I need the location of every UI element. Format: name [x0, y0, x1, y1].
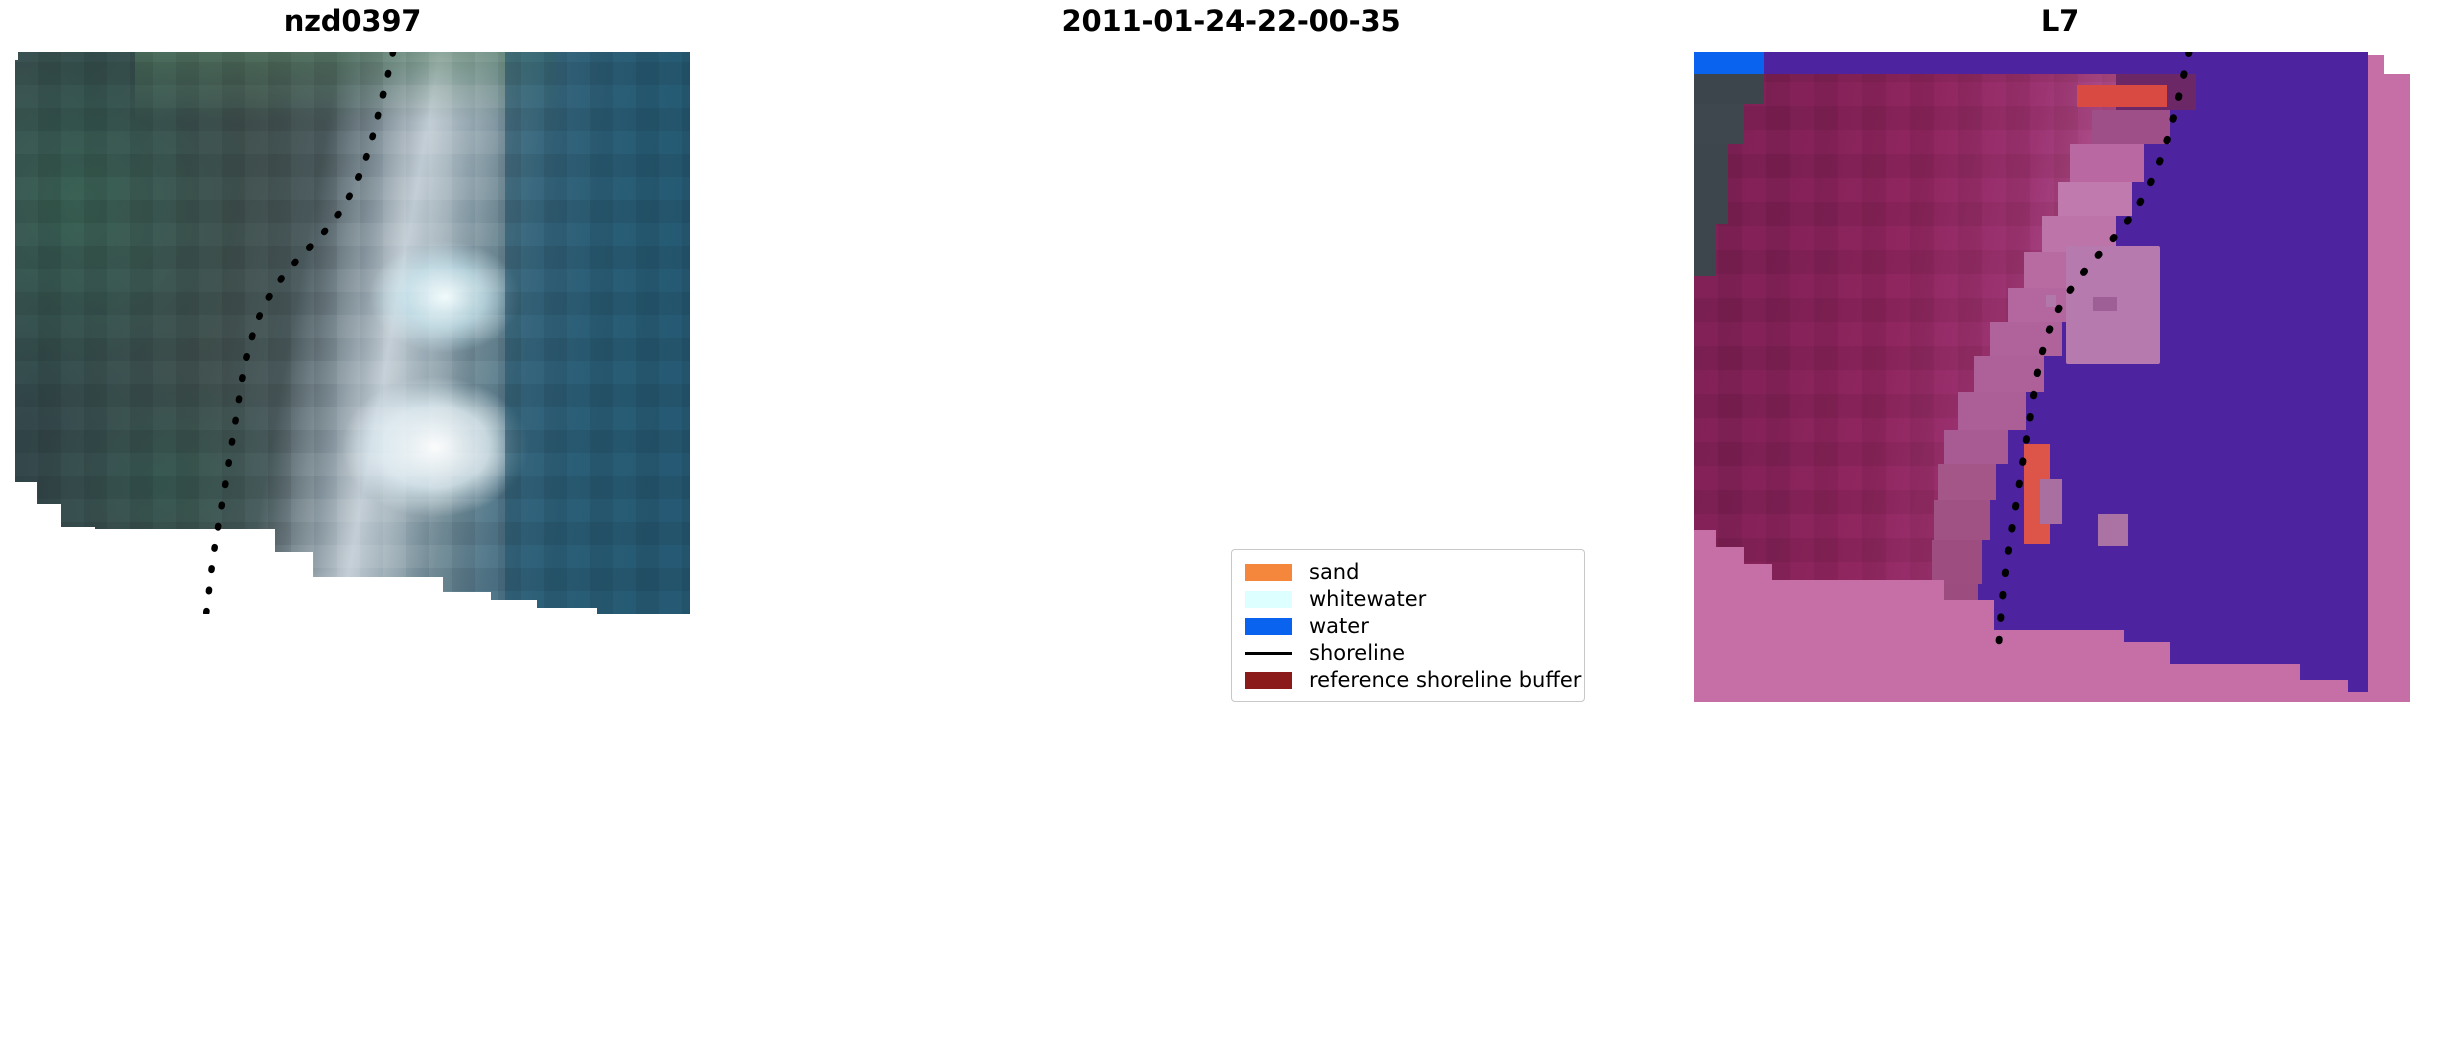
panel-index-map: L7 — [1660, 0, 2460, 1043]
panel-title-3: L7 — [1660, 4, 2460, 38]
panel-title-2: 2011-01-24-22-00-35 — [820, 4, 1642, 38]
shoreline-line-icon — [1245, 652, 1292, 655]
water-swatch-icon — [1245, 618, 1292, 635]
legend-label-shoreline: shoreline — [1309, 643, 1405, 664]
figure-canvas: nzd0397 — [0, 0, 2460, 1043]
panel-rgb-image: nzd0397 — [0, 0, 705, 1043]
legend-item-water: water — [1245, 613, 1572, 640]
legend-label-reference-buffer: reference shoreline buffer — [1309, 670, 1581, 691]
legend-label-sand: sand — [1309, 562, 1359, 583]
shoreline-overlay — [15, 52, 690, 614]
panel-classification-map: 2011-01-24-22-00-35 — [820, 0, 1642, 1043]
legend-item-sand: sand — [1245, 559, 1572, 586]
legend-item-reference-shoreline-buffer: reference shoreline buffer — [1245, 667, 1572, 694]
legend-label-whitewater: whitewater — [1309, 589, 1426, 610]
panel-title-1: nzd0397 — [0, 4, 705, 38]
whitewater-swatch-icon — [1245, 591, 1292, 608]
sand-swatch-icon — [1245, 564, 1292, 581]
legend-item-shoreline: shoreline — [1245, 640, 1572, 667]
reference-buffer-swatch-icon — [1245, 672, 1292, 689]
axes-rgb-image — [15, 52, 690, 614]
legend-item-whitewater: whitewater — [1245, 586, 1572, 613]
legend-label-water: water — [1309, 616, 1369, 637]
legend-box: sand whitewater water shoreline referenc… — [1231, 549, 1585, 702]
